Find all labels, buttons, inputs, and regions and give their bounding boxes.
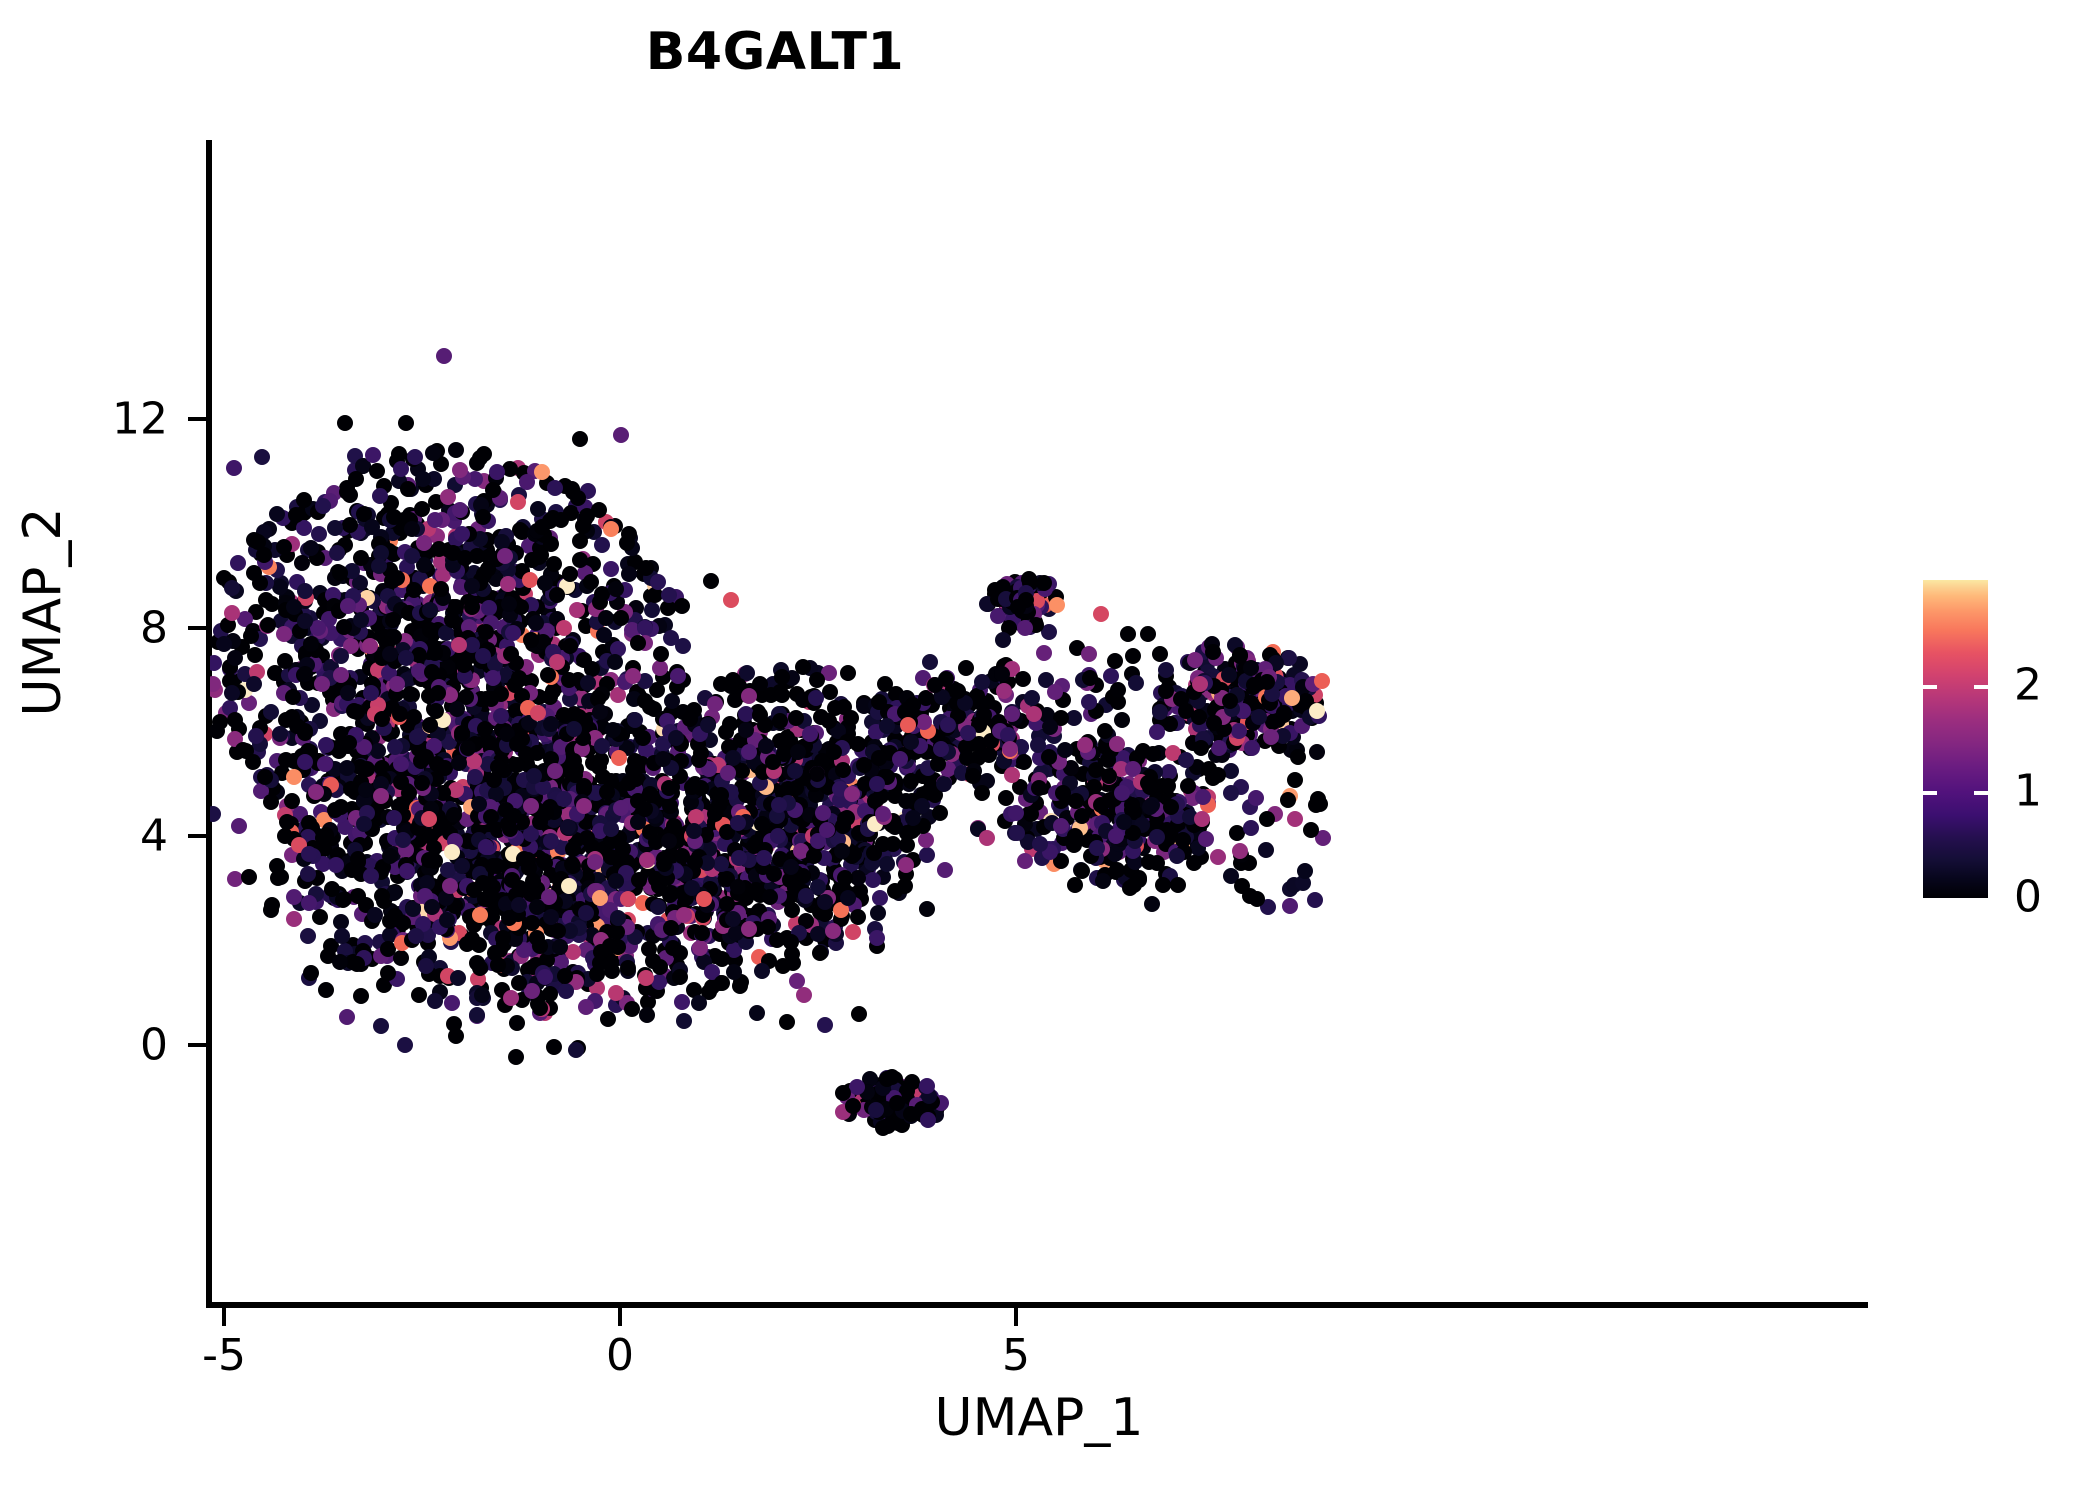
scatter-point	[450, 970, 466, 986]
y-tick-mark	[188, 417, 206, 421]
scatter-point	[994, 666, 1010, 682]
scatter-point	[230, 555, 246, 571]
scatter-point	[269, 506, 285, 522]
scatter-point	[789, 973, 805, 989]
scatter-point	[487, 945, 503, 961]
scatter-point	[631, 872, 647, 888]
scatter-point	[241, 869, 257, 885]
scatter-point	[424, 664, 440, 680]
scatter-point	[317, 756, 333, 772]
scatter-point	[511, 670, 527, 686]
scatter-point	[1049, 597, 1065, 613]
scatter-point	[810, 926, 826, 942]
scatter-point	[382, 848, 398, 864]
scatter-point	[851, 1006, 867, 1022]
scatter-point	[340, 598, 356, 614]
scatter-point	[880, 1118, 896, 1134]
scatter-point	[774, 687, 790, 703]
x-tick-label: -5	[164, 1330, 284, 1381]
scatter-point	[358, 782, 374, 798]
y-tick-mark	[188, 1043, 206, 1047]
scatter-point	[672, 945, 688, 961]
scatter-point	[884, 1069, 900, 1085]
scatter-point	[1178, 703, 1194, 719]
scatter-point	[531, 549, 547, 565]
scatter-point	[652, 660, 668, 676]
scatter-point	[1243, 820, 1259, 836]
scatter-point	[821, 713, 837, 729]
scatter-point	[1259, 811, 1275, 827]
scatter-point	[227, 650, 243, 666]
scatter-point	[510, 494, 526, 510]
scatter-point	[625, 668, 641, 684]
scatter-point	[552, 939, 568, 955]
scatter-point	[1282, 898, 1298, 914]
scatter-point	[639, 852, 655, 868]
scatter-point	[661, 780, 677, 796]
scatter-point	[1246, 677, 1262, 693]
scatter-point	[356, 816, 372, 832]
scatter-point	[1195, 789, 1211, 805]
scatter-point	[656, 856, 672, 872]
scatter-point	[826, 744, 842, 760]
scatter-point	[547, 480, 563, 496]
scatter-point	[1082, 670, 1098, 686]
scatter-point	[1030, 737, 1046, 753]
scatter-point	[448, 442, 464, 458]
scatter-point	[522, 572, 538, 588]
scatter-point	[418, 958, 434, 974]
scatter-point	[774, 669, 790, 685]
scatter-point	[879, 718, 895, 734]
scatter-point	[373, 1018, 389, 1034]
scatter-point	[337, 415, 353, 431]
scatter-point	[254, 449, 270, 465]
scatter-point	[478, 839, 494, 855]
scatter-point	[481, 600, 497, 616]
scatter-point	[1307, 892, 1323, 908]
scatter-point	[817, 1017, 833, 1033]
scatter-point	[899, 837, 915, 853]
scatter-point	[918, 832, 934, 848]
scatter-point	[965, 768, 981, 784]
scatter-point	[324, 881, 340, 897]
scatter-point	[1175, 832, 1191, 848]
scatter-point	[741, 744, 757, 760]
scatter-point	[494, 534, 510, 550]
scatter-point	[783, 934, 799, 950]
scatter-point	[248, 728, 264, 744]
scatter-point	[469, 455, 485, 471]
scatter-point	[1101, 768, 1117, 784]
scatter-point	[1180, 778, 1196, 794]
scatter-point	[406, 582, 422, 598]
scatter-point	[414, 775, 430, 791]
scatter-point	[578, 905, 594, 921]
scatter-point	[919, 1078, 935, 1094]
scatter-point	[504, 872, 520, 888]
scatter-point	[608, 581, 624, 597]
scatter-point	[553, 512, 569, 528]
scatter-point	[772, 713, 788, 729]
scatter-point	[1244, 740, 1260, 756]
scatter-point	[503, 646, 519, 662]
scatter-point	[380, 965, 396, 981]
scatter-point	[870, 905, 886, 921]
scatter-point	[610, 910, 626, 926]
scatter-point	[592, 704, 608, 720]
scatter-point	[1287, 811, 1303, 827]
scatter-point	[404, 521, 420, 537]
scatter-point	[868, 1102, 884, 1118]
scatter-point	[332, 954, 348, 970]
scatter-point	[1047, 684, 1063, 700]
scatter-point	[798, 888, 814, 904]
scatter-point	[497, 548, 513, 564]
scatter-point	[560, 819, 576, 835]
scatter-point	[1169, 848, 1185, 864]
scatter-point	[1067, 828, 1083, 844]
scatter-point	[501, 596, 517, 612]
scatter-point	[1015, 671, 1031, 687]
scatter-point	[741, 688, 757, 704]
scatter-point	[674, 598, 690, 614]
scatter-point	[898, 793, 914, 809]
scatter-point	[397, 1037, 413, 1053]
scatter-point	[1081, 646, 1097, 662]
scatter-point	[263, 704, 279, 720]
scatter-point	[837, 870, 853, 886]
scatter-point	[865, 872, 881, 888]
colorbar-tick-1-left	[1923, 791, 1937, 795]
scatter-point	[979, 830, 995, 846]
scatter-point	[707, 696, 723, 712]
scatter-point	[342, 487, 358, 503]
scatter-point	[639, 1007, 655, 1023]
scatter-point	[415, 471, 431, 487]
scatter-point	[790, 744, 806, 760]
scatter-point	[256, 547, 272, 563]
scatter-point	[386, 509, 402, 525]
scatter-point	[342, 517, 358, 533]
scatter-point	[592, 955, 608, 971]
scatter-point	[819, 822, 835, 838]
scatter-point	[725, 672, 741, 688]
scatter-point	[738, 722, 754, 738]
scatter-point	[1248, 790, 1264, 806]
scatter-point	[400, 481, 416, 497]
scatter-point	[1152, 704, 1168, 720]
scatter-point	[682, 711, 698, 727]
scatter-point	[1053, 818, 1069, 834]
scatter-point	[741, 921, 757, 937]
scatter-point	[285, 689, 301, 705]
scatter-point	[749, 1005, 765, 1021]
scatter-point	[546, 1039, 562, 1055]
scatter-point	[1303, 822, 1319, 838]
scatter-point	[457, 550, 473, 566]
scatter-point	[1114, 785, 1130, 801]
scatter-point	[1023, 806, 1039, 822]
scatter-point	[788, 710, 804, 726]
scatter-point	[421, 811, 437, 827]
scatter-point	[576, 778, 592, 794]
scatter-point	[508, 1049, 524, 1065]
scatter-point	[524, 915, 540, 931]
scatter-point	[288, 507, 304, 523]
scatter-point	[850, 909, 866, 925]
scatter-point	[834, 843, 850, 859]
scatter-point	[542, 689, 558, 705]
scatter-point	[1223, 785, 1239, 801]
scatter-point	[638, 970, 654, 986]
scatter-point	[1120, 626, 1136, 642]
scatter-point	[529, 930, 545, 946]
scatter-point	[754, 963, 770, 979]
scatter-point	[703, 573, 719, 589]
scatter-point	[374, 711, 390, 727]
scatter-point	[519, 474, 535, 490]
scatter-point	[226, 460, 242, 476]
scatter-point	[1125, 648, 1141, 664]
scatter-point	[550, 923, 566, 939]
scatter-point	[444, 995, 460, 1011]
scatter-point	[303, 965, 319, 981]
scatter-point	[1004, 706, 1020, 722]
scatter-point	[436, 348, 452, 364]
scatter-point	[495, 930, 511, 946]
scatter-point	[621, 566, 637, 582]
scatter-point	[422, 622, 438, 638]
scatter-point	[534, 464, 550, 480]
scatter-point	[475, 875, 491, 891]
scatter-point	[937, 862, 953, 878]
scatter-point	[1077, 737, 1093, 753]
scatter-point	[1249, 891, 1265, 907]
scatter-point	[1258, 842, 1274, 858]
scatter-point	[903, 773, 919, 789]
scatter-point	[543, 833, 559, 849]
scatter-point	[812, 945, 828, 961]
scatter-point	[246, 565, 262, 581]
x-tick-mark	[222, 1308, 226, 1326]
x-tick-mark	[618, 1308, 622, 1326]
scatter-point	[1280, 792, 1296, 808]
scatter-point	[603, 821, 619, 837]
scatter-point	[920, 1112, 936, 1128]
scatter-point	[350, 851, 366, 867]
scatter-point	[561, 878, 577, 894]
scatter-point	[284, 793, 300, 809]
scatter-point	[336, 619, 352, 635]
scatter-point	[385, 612, 401, 628]
scatter-point	[815, 805, 831, 821]
scatter-point	[1231, 723, 1247, 739]
scatter-point	[546, 556, 562, 572]
scatter-point	[1186, 855, 1202, 871]
scatter-point	[1010, 599, 1026, 615]
scatter-plot-area[interactable]	[210, 140, 1868, 1305]
scatter-point	[919, 847, 935, 863]
scatter-point	[489, 464, 505, 480]
scatter-point	[365, 447, 381, 463]
scatter-point	[1170, 877, 1186, 893]
colorbar-label-2: 2	[2014, 660, 2042, 711]
scatter-point	[981, 747, 997, 763]
scatter-point	[843, 710, 859, 726]
scatter-point	[974, 785, 990, 801]
scatter-point	[424, 899, 440, 915]
scatter-point	[1128, 675, 1144, 691]
scatter-point	[530, 501, 546, 517]
scatter-point	[661, 833, 677, 849]
scatter-point	[900, 717, 916, 733]
scatter-point	[562, 566, 578, 582]
scatter-point	[796, 987, 812, 1003]
scatter-point	[1158, 662, 1174, 678]
scatter-point	[332, 565, 348, 581]
scatter-point	[621, 775, 637, 791]
scatter-point	[892, 751, 908, 767]
scatter-point	[395, 832, 411, 848]
scatter-point	[1198, 831, 1214, 847]
scatter-point	[621, 526, 637, 542]
scatter-point	[579, 508, 595, 524]
scatter-point	[1114, 712, 1130, 728]
scatter-point	[430, 685, 446, 701]
scatter-point	[687, 854, 703, 870]
scatter-point	[1210, 767, 1226, 783]
scatter-point	[286, 599, 302, 615]
scatter-point	[1155, 877, 1171, 893]
scatter-point	[700, 717, 716, 733]
scatter-point	[341, 735, 357, 751]
scatter-point	[210, 676, 221, 692]
scatter-point	[666, 818, 682, 834]
x-tick-mark	[1014, 1308, 1018, 1326]
scatter-point	[825, 923, 841, 939]
scatter-point	[731, 850, 747, 866]
scatter-point	[543, 716, 559, 732]
scatter-point	[637, 620, 653, 636]
scatter-point	[766, 866, 782, 882]
scatter-point	[231, 818, 247, 834]
scatter-point	[653, 646, 669, 662]
scatter-point	[691, 995, 707, 1011]
scatter-point	[726, 964, 742, 980]
scatter-point	[1187, 652, 1203, 668]
y-tick-mark	[188, 834, 206, 838]
scatter-point	[393, 461, 409, 477]
scatter-point	[509, 1015, 525, 1031]
scatter-point	[460, 740, 476, 756]
scatter-point	[1193, 740, 1209, 756]
scatter-point	[409, 729, 425, 745]
scatter-point	[372, 488, 388, 504]
scatter-point	[1107, 653, 1123, 669]
scatter-point	[1108, 828, 1124, 844]
scatter-point	[333, 648, 349, 664]
scatter-point	[1103, 668, 1119, 684]
scatter-point	[974, 674, 990, 690]
scatter-point	[478, 624, 494, 640]
scatter-point	[630, 635, 646, 651]
scatter-point	[1297, 863, 1313, 879]
scatter-point	[538, 805, 554, 821]
chart-title: B4GALT1	[0, 22, 1550, 82]
scatter-point	[1243, 660, 1259, 676]
scatter-point	[572, 431, 588, 447]
scatter-point	[471, 796, 487, 812]
scatter-point	[371, 558, 387, 574]
scatter-point	[1008, 805, 1024, 821]
scatter-point	[353, 550, 369, 566]
scatter-point	[246, 676, 262, 692]
scatter-point	[600, 1011, 616, 1027]
scatter-point	[398, 415, 414, 431]
scatter-point	[572, 552, 588, 568]
scatter-point	[663, 630, 679, 646]
scatter-point	[300, 928, 316, 944]
scatter-point	[472, 907, 488, 923]
scatter-point	[556, 791, 572, 807]
scatter-point	[696, 891, 712, 907]
scatter-point	[889, 1095, 905, 1111]
scatter-point	[311, 526, 327, 542]
scatter-point	[611, 750, 627, 766]
scatter-point	[845, 924, 861, 940]
scatter-point	[210, 723, 225, 739]
scatter-point	[1149, 724, 1165, 740]
scatter-point	[414, 501, 430, 517]
scatter-point	[464, 599, 480, 615]
scatter-point	[1002, 741, 1018, 757]
colorbar-label-1: 1	[2014, 766, 2042, 817]
scatter-point	[558, 983, 574, 999]
scatter-point	[587, 854, 603, 870]
scatter-point	[756, 850, 772, 866]
scatter-point	[845, 1098, 861, 1114]
scatter-point	[1135, 743, 1151, 759]
scatter-point	[1312, 796, 1328, 812]
scatter-point	[1229, 825, 1245, 841]
scatter-point	[714, 951, 730, 967]
colorbar-tick-2-left	[1923, 685, 1937, 689]
scatter-point	[297, 666, 313, 682]
x-tick-label: 5	[956, 1330, 1076, 1381]
scatter-point	[613, 610, 629, 626]
scatter-point	[1281, 650, 1297, 666]
scatter-point	[1263, 729, 1279, 745]
scatter-point	[448, 599, 464, 615]
scatter-point	[243, 628, 259, 644]
colorbar-gradient	[1923, 580, 1988, 898]
scatter-point	[483, 809, 499, 825]
scatter-point	[1097, 723, 1113, 739]
scatter-point	[638, 560, 654, 576]
scatter-point	[769, 932, 785, 948]
scatter-point	[474, 987, 490, 1003]
scatter-point	[1141, 854, 1157, 870]
scatter-point	[1067, 877, 1083, 893]
scatter-point	[1163, 799, 1179, 815]
scatter-point	[1109, 736, 1125, 752]
scatter-point	[547, 763, 563, 779]
scatter-point	[950, 683, 966, 699]
scatter-point	[454, 526, 470, 542]
scatter-point	[676, 1013, 692, 1029]
scatter-point	[532, 1000, 548, 1016]
